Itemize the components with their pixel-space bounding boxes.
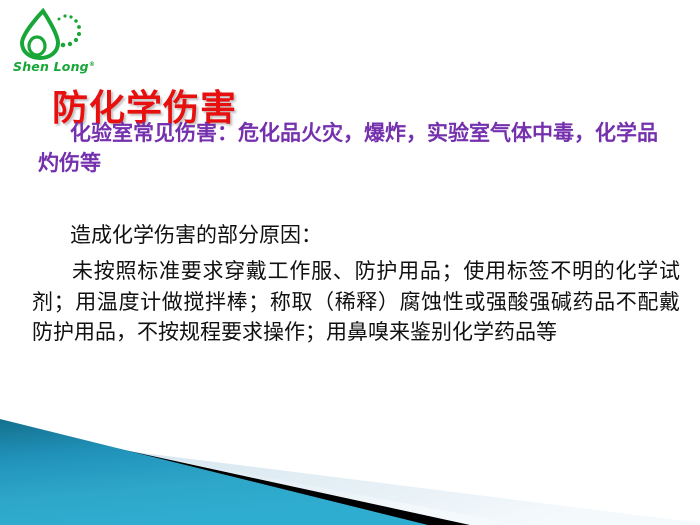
slide-subtitle: 化验室常见伤害：危化品火灾，爆炸，实验室气体中毒，化学品灼伤等 [38, 118, 678, 179]
water-droplet-with-stars-icon [10, 8, 96, 62]
black-diagonal-stripe [0, 423, 470, 525]
teal-triangle [0, 419, 428, 525]
logo-brand-text: Shen Long® [13, 59, 95, 74]
pale-blue-band-upper [0, 427, 520, 525]
registered-trademark-mark: ® [89, 61, 95, 68]
pale-blue-band [0, 435, 700, 525]
company-logo: Shen Long® [10, 8, 96, 80]
bottom-diagonal-bands-decoration [0, 405, 700, 525]
body-heading: 造成化学伤害的部分原因： [38, 219, 322, 249]
body-paragraph: 未按照标准要求穿戴工作服、防护用品；使用标签不明的化学试剂；用温度计做搅拌棒；称… [32, 256, 680, 348]
slide-canvas: Shen Long® 防化学伤害 化验室常见伤害：危化品火灾，爆炸，实验室气体中… [0, 0, 700, 525]
